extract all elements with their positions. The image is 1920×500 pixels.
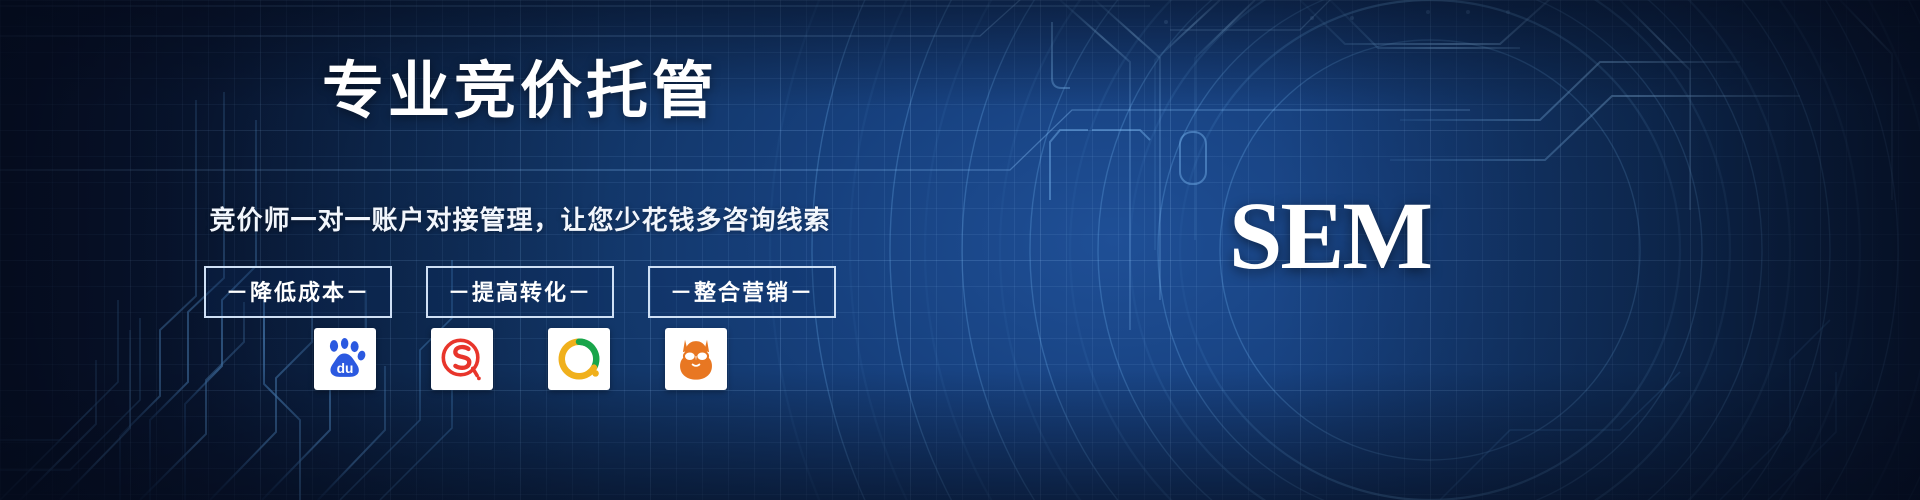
page-title: 专业竞价托管 — [0, 58, 1040, 126]
shenma-alpaca-icon — [674, 336, 718, 382]
sem-hosting-banner: 专业竞价托管 竞价师一对一账户对接管理，让您少花钱多咨询线索 －降低成本－ －提… — [0, 0, 1920, 500]
baidu-paw-icon: du — [323, 337, 367, 381]
shenma-logo[interactable] — [665, 328, 727, 390]
page-subtitle: 竞价师一对一账户对接管理，让您少花钱多咨询线索 — [0, 200, 1040, 237]
sem-wordmark: SEM — [1120, 188, 1540, 284]
badge-integrated-marketing[interactable]: －整合营销－ — [648, 266, 836, 318]
360-circle-icon — [556, 336, 602, 382]
search-engine-logo-list: du — [0, 328, 1040, 390]
badge-lower-cost[interactable]: －降低成本－ — [204, 266, 392, 318]
svg-text:du: du — [336, 361, 353, 376]
baidu-logo[interactable]: du — [314, 328, 376, 390]
360-logo[interactable] — [548, 328, 610, 390]
badge-raise-conversion[interactable]: －提高转化－ — [426, 266, 614, 318]
banner-content: 专业竞价托管 竞价师一对一账户对接管理，让您少花钱多咨询线索 －降低成本－ －提… — [0, 0, 1920, 500]
sogou-logo[interactable] — [431, 328, 493, 390]
sogou-s-icon — [439, 336, 485, 382]
feature-badge-list: －降低成本－ －提高转化－ －整合营销－ — [0, 266, 1040, 318]
